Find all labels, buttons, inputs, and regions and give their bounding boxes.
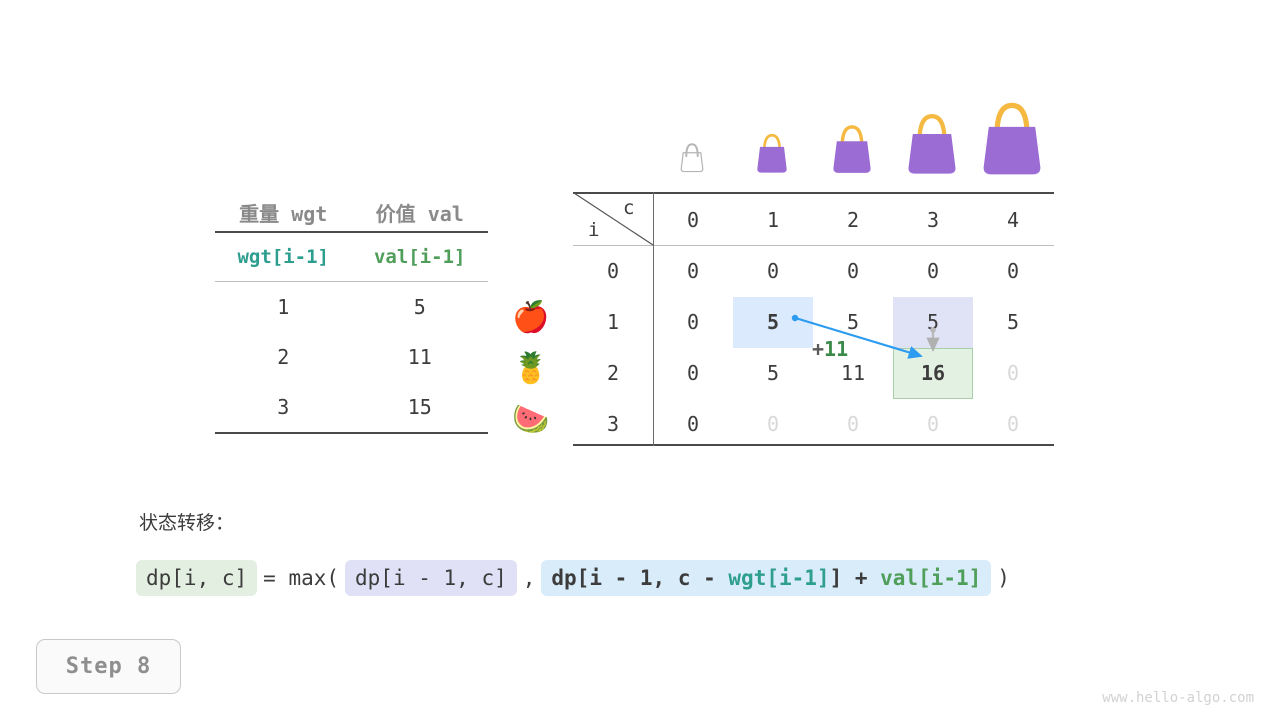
item-weight-cell: 2 — [215, 345, 352, 369]
formula-equals-max: = max( — [257, 566, 345, 590]
item-value-cell: 5 — [352, 295, 489, 319]
item-table-row: 315 — [215, 382, 488, 432]
dp-cell: 0 — [973, 348, 1053, 399]
dp-cell: 0 — [813, 399, 893, 450]
dp-row-header: 0 — [573, 246, 653, 297]
formula-comma: , — [517, 566, 542, 590]
item-table-row: 15 — [215, 282, 488, 332]
item-table-sub-val: val[i-1] — [352, 246, 489, 268]
item-table-header-wgt: 重量 wgt — [215, 198, 352, 227]
dp-corner-col-label: c — [623, 197, 634, 219]
item-table-header-val: 价值 val — [352, 198, 489, 227]
dp-col-header: 2 — [813, 200, 893, 240]
state-transition-formula: dp[i, c] = max( dp[i - 1, c] , dp[i - 1,… — [136, 560, 1016, 596]
step-badge: Step 8 — [36, 639, 181, 694]
dp-cell: 0 — [653, 399, 733, 450]
dp-col-header: 0 — [653, 200, 733, 240]
dp-cell: 0 — [653, 246, 733, 297]
state-transition-label: 状态转移： — [139, 508, 234, 535]
apple-icon: 🍎 — [508, 295, 554, 341]
formula-arg-skip: dp[i - 1, c] — [345, 560, 517, 596]
dp-cell: 5 — [733, 297, 813, 348]
dp-cell: 0 — [653, 348, 733, 399]
item-weight-cell: 3 — [215, 395, 352, 419]
slide-canvas: 重量 wgt 价值 val wgt[i-1] val[i-1] 15211315… — [0, 0, 1280, 720]
pineapple-icon: 🍍 — [508, 346, 554, 392]
dp-col-header: 4 — [973, 200, 1053, 240]
formula-arg-take: dp[i - 1, c - wgt[i-1]] + val[i-1] — [541, 560, 991, 596]
dp-table: c i 01234 0123 0000005555051116000000 — [573, 192, 1054, 446]
bag-size-0 — [676, 139, 708, 176]
corner-diagonal-line — [573, 192, 654, 246]
item-table-bottom-rule — [215, 432, 488, 434]
watermelon-icon: 🍉 — [508, 397, 554, 443]
formula-lhs: dp[i, c] — [136, 560, 257, 596]
dp-row-header: 3 — [573, 399, 653, 450]
bag-size-4 — [978, 92, 1046, 176]
increment-value: 11 — [824, 337, 848, 361]
site-watermark: www.hello-algo.com — [1102, 690, 1254, 706]
dp-corner-row-label: i — [588, 219, 599, 241]
dp-col-header: 1 — [733, 200, 813, 240]
item-value-cell: 11 — [352, 345, 489, 369]
item-weight-cell: 1 — [215, 295, 352, 319]
item-value-cell: 15 — [352, 395, 489, 419]
formula-close-paren: ) — [991, 566, 1016, 590]
dp-col-header: 3 — [893, 200, 973, 240]
dp-cell: 5 — [973, 297, 1053, 348]
dp-cell: 0 — [973, 399, 1053, 450]
formula-arg-take-mid: ] + — [830, 566, 881, 590]
dp-cell: 0 — [653, 297, 733, 348]
dp-cell: 0 — [893, 246, 973, 297]
dp-row-header: 1 — [573, 297, 653, 348]
step-badge-label: Step 8 — [66, 654, 151, 679]
dp-cell: 0 — [973, 246, 1053, 297]
dp-cell: 5 — [733, 348, 813, 399]
value-increment-annotation: +11 — [812, 337, 848, 361]
item-table-header-row: 重量 wgt 价值 val — [215, 193, 488, 231]
item-weight-value-table: 重量 wgt 价值 val wgt[i-1] val[i-1] 15211315 — [215, 193, 488, 434]
formula-arg-take-pre: dp[i - 1, c - — [551, 566, 728, 590]
dp-cell: 16 — [893, 348, 973, 399]
item-table-subheader-row: wgt[i-1] val[i-1] — [215, 233, 488, 281]
bag-size-2 — [828, 118, 876, 176]
dp-cell: 0 — [733, 246, 813, 297]
dp-cell: 0 — [813, 246, 893, 297]
formula-token-wgt: wgt[i-1] — [728, 566, 829, 590]
dp-cell: 0 — [733, 399, 813, 450]
bag-size-1 — [752, 128, 792, 176]
formula-token-val: val[i-1] — [880, 566, 981, 590]
item-table-sub-wgt: wgt[i-1] — [215, 246, 352, 268]
dp-cell: 0 — [893, 399, 973, 450]
dp-row-header: 2 — [573, 348, 653, 399]
increment-sign: + — [812, 337, 824, 361]
item-table-row: 211 — [215, 332, 488, 382]
dp-cell: 5 — [893, 297, 973, 348]
bag-size-3 — [903, 105, 961, 176]
